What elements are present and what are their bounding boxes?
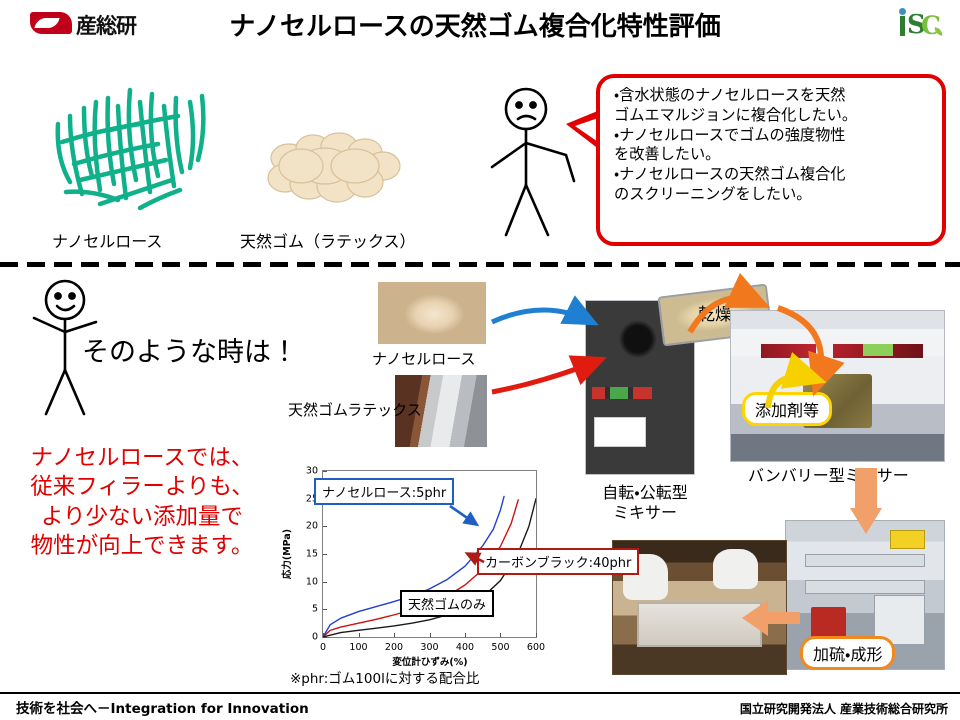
mixer-label-tag	[594, 417, 646, 447]
caption-nanocellulose-top: ナノセルロース	[52, 228, 162, 252]
bubble-line-2: ゴムエマルジョンに複合化したい。	[614, 106, 932, 126]
isc-letter-i	[900, 16, 905, 36]
rubber-sheet-tray	[637, 602, 762, 647]
bubble-line-3: ・ナノセルロースでゴムの強度物性	[614, 126, 932, 146]
chart-xtick-100: 100	[349, 642, 367, 653]
chart-ytick-15: 15	[306, 549, 318, 560]
footer-divider	[0, 692, 960, 694]
banbury-green-panel	[863, 344, 893, 356]
chart-xtick-400: 400	[456, 642, 474, 653]
chart-ytick-30: 30	[306, 466, 318, 477]
caption-banbury-mixer: バンバリー型ミキサー	[748, 462, 909, 486]
aist-logo: 産総研	[30, 8, 160, 40]
bubble-line-1: ・含水状態のナノセルロースを天然	[614, 86, 932, 106]
chart-ytick-10: 10	[306, 576, 318, 587]
press-warning-label	[890, 530, 925, 549]
chart-xtick-300: 300	[420, 642, 438, 653]
photo-banbury-mixer	[730, 310, 945, 462]
red-message-line-2: 従来フィラーよりも、	[8, 473, 276, 502]
callout-drying: 乾燥	[698, 300, 732, 325]
bubble-line-4: を改善したい。	[614, 145, 932, 165]
photo-nanocellulose-sample	[378, 282, 486, 344]
callout-additives: 添加剤等	[742, 392, 832, 426]
speech-bubble: ・含水状態のナノセルロースを天然 ゴムエマルジョンに複合化したい。 ・ナノセルロ…	[596, 74, 946, 246]
red-message: ナノセルロースでは、 従来フィラーよりも、 より少ない添加量で 物性が向上できま…	[8, 444, 276, 561]
chart-ytick-5: 5	[312, 604, 318, 615]
slide-root: 産総研 ナノセルロースの天然ゴム複合化特性評価 S C	[0, 0, 960, 720]
caption-nanocellulose-process: ナノセルロース	[372, 348, 476, 369]
page-title: ナノセルロースの天然ゴム複合化特性評価	[175, 6, 775, 43]
caption-latex: 天然ゴムラテックス	[288, 399, 422, 420]
footer-tagline: 技術を社会へ－Integration for Innovation	[16, 697, 309, 717]
chart-y-axis-label: 応力(MPa)	[279, 529, 293, 579]
aist-logo-text: 産総研	[76, 10, 136, 40]
aist-mark-icon	[30, 12, 72, 34]
chart-xtick-500: 500	[491, 642, 509, 653]
isc-logo-icon: S C	[898, 6, 942, 42]
exclaim-text: そのような時は！	[82, 330, 298, 369]
chart-xtick-200: 200	[385, 642, 403, 653]
mixer-control-buttons	[592, 387, 652, 399]
red-message-line-3: より少ない添加量で	[8, 503, 276, 532]
natural-rubber-latex-illustration	[255, 128, 415, 208]
slide-header: 産総研 ナノセルロースの天然ゴム複合化特性評価 S C	[0, 0, 960, 52]
red-message-line-4: 物性が向上できます。	[8, 532, 276, 561]
stress-strain-chart: 応力(MPa) 0 5 10 15 20 25 30 0 100 200 300…	[272, 462, 617, 677]
chart-x-axis-label: 変位計ひずみ(%)	[392, 654, 467, 668]
chart-annotation-nanocellulose: ナノセルロース:5phr	[314, 478, 454, 505]
chart-ytick-20: 20	[306, 521, 318, 532]
section-divider	[0, 262, 960, 267]
banbury-display-left	[761, 344, 816, 358]
caption-natural-rubber-top: 天然ゴム（ラテックス）	[240, 228, 416, 252]
bubble-line-6: のスクリーニングをしたい。	[614, 185, 932, 205]
chart-xtick-600: 600	[527, 642, 545, 653]
chart-annotation-naturalrubber: 天然ゴムのみ	[400, 590, 494, 617]
footer-organization: 国立研究開発法人 産業技術総合研究所	[740, 700, 948, 717]
callout-vulcanize-mold: 加硫・成形	[800, 636, 895, 670]
press-plate-lower	[805, 580, 925, 593]
stick-figure-worried	[478, 85, 598, 245]
nanocellulose-fiber-illustration	[40, 72, 230, 217]
chart-xtick-0: 0	[320, 642, 326, 653]
chart-footnote: ※phr:ゴム100lに対する配合比	[290, 667, 479, 687]
bubble-line-5: ・ナノセルロースの天然ゴム複合化	[614, 165, 932, 185]
gloved-hand-right	[713, 549, 758, 589]
chart-annotation-carbonblack: カーボンブラック:40phr	[477, 548, 639, 575]
red-message-line-1: ナノセルロースでは、	[8, 444, 276, 473]
chart-ytick-0: 0	[312, 632, 318, 643]
press-plate-upper	[805, 554, 925, 567]
